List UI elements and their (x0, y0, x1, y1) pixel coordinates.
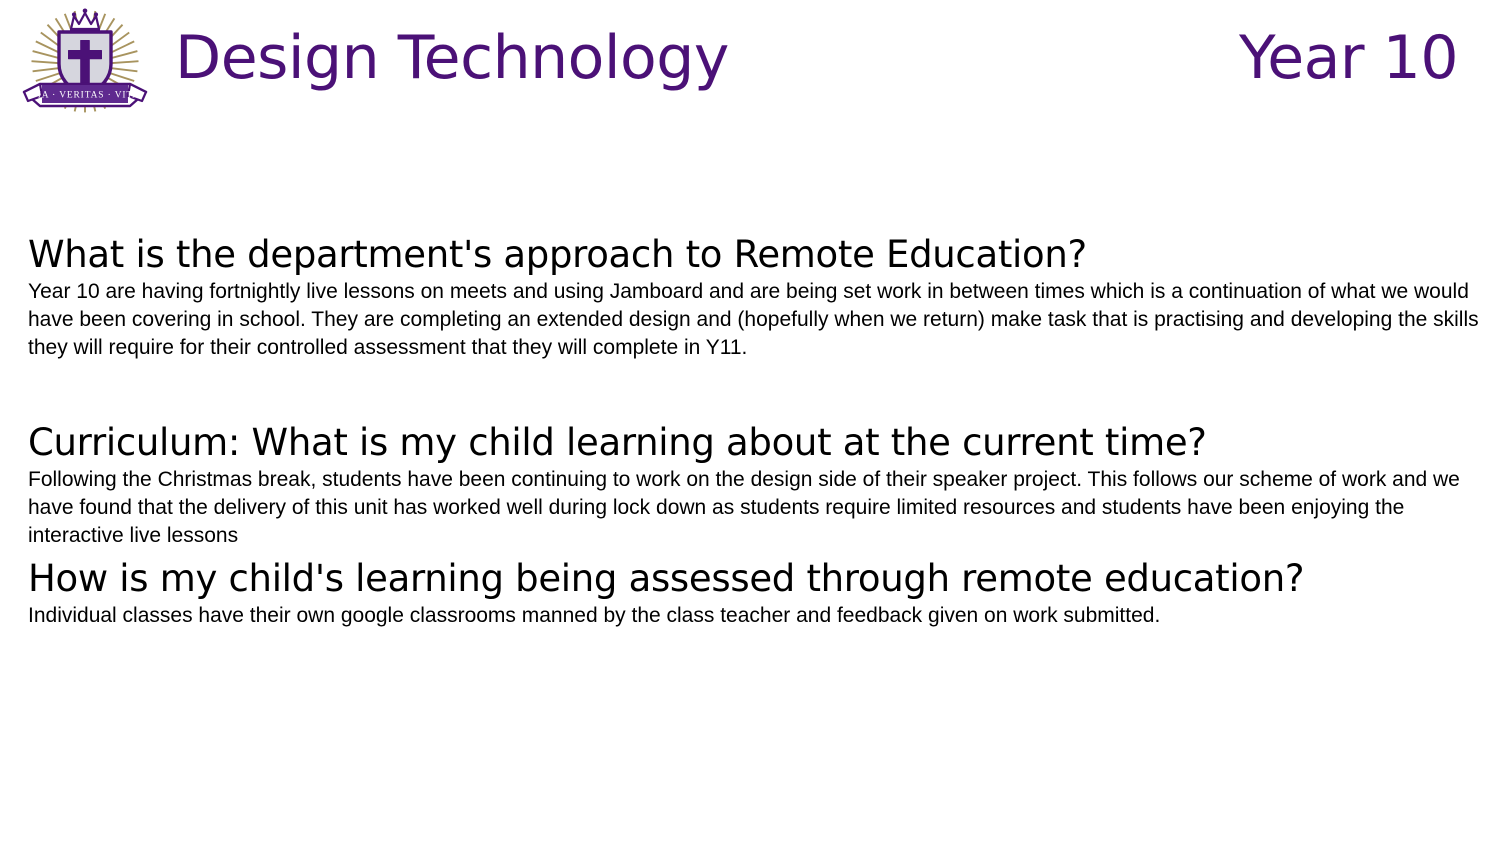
section-body: Individual classes have their own google… (28, 602, 1480, 630)
section-spacer (28, 362, 1484, 420)
section-remote-education-approach: What is the department's approach to Rem… (28, 232, 1484, 362)
section-heading: What is the department's approach to Rem… (28, 232, 1484, 278)
slide: VIA · VERITAS · VITA Design Technology Y… (0, 0, 1500, 844)
section-assessment: How is my child's learning being assesse… (28, 556, 1484, 630)
title-row: Design Technology Year 10 (175, 18, 1468, 98)
slide-header: VIA · VERITAS · VITA Design Technology Y… (0, 0, 1500, 128)
section-heading: Curriculum: What is my child learning ab… (28, 420, 1484, 466)
year-group-label: Year 10 (1239, 28, 1468, 88)
section-curriculum: Curriculum: What is my child learning ab… (28, 420, 1484, 550)
crest-motto: VIA · VERITAS · VITA (30, 91, 140, 101)
section-body: Following the Christmas break, students … (28, 466, 1480, 550)
slide-body: What is the department's approach to Rem… (28, 232, 1484, 630)
school-crest-icon: VIA · VERITAS · VITA (18, 4, 152, 116)
section-body: Year 10 are having fortnightly live less… (28, 278, 1480, 362)
page-title: Design Technology (175, 28, 729, 88)
section-heading: How is my child's learning being assesse… (28, 556, 1484, 602)
